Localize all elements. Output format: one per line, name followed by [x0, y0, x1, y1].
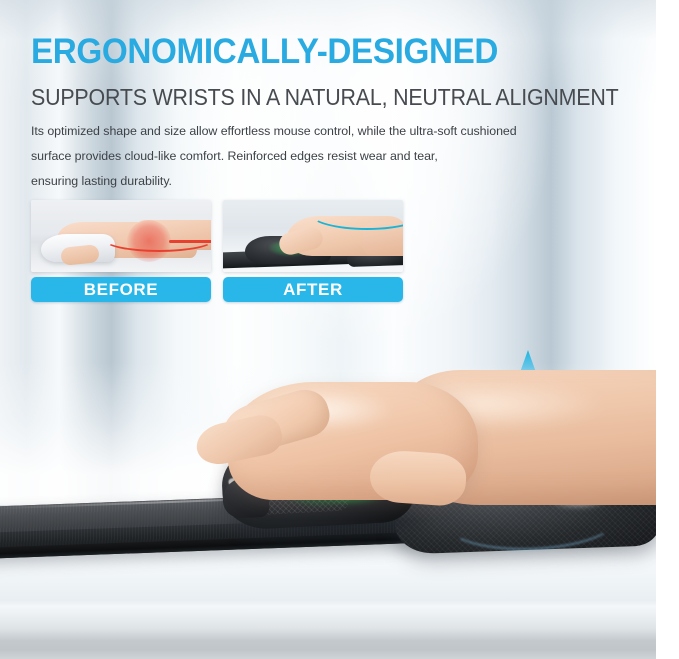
- after-label: AFTER: [223, 277, 403, 302]
- before-after-comparison: BEFORE AFTER: [31, 200, 403, 312]
- before-photo: [31, 200, 211, 272]
- before-strain-line-tail: [169, 240, 211, 243]
- before-strain-line: [103, 226, 211, 252]
- photo-canvas: ERGONOMICALLY-DESIGNED SUPPORTS WRISTS I…: [0, 0, 656, 659]
- page-title: ERGONOMICALLY-DESIGNED: [31, 33, 498, 70]
- before-card: BEFORE: [31, 200, 211, 312]
- thumb: [368, 449, 467, 508]
- after-photo: [223, 200, 403, 272]
- body-line-2: surface provides cloud-like comfort. Rei…: [31, 144, 591, 169]
- body-line-3: ensuring lasting durability.: [31, 169, 591, 194]
- body-copy: Its optimized shape and size allow effor…: [31, 119, 591, 193]
- page-subtitle: SUPPORTS WRISTS IN A NATURAL, NEUTRAL AL…: [31, 85, 619, 110]
- after-card: AFTER: [223, 200, 403, 312]
- marketing-image: ERGONOMICALLY-DESIGNED SUPPORTS WRISTS I…: [0, 0, 679, 659]
- before-label: BEFORE: [31, 277, 211, 302]
- body-line-1: Its optimized shape and size allow effor…: [31, 119, 591, 144]
